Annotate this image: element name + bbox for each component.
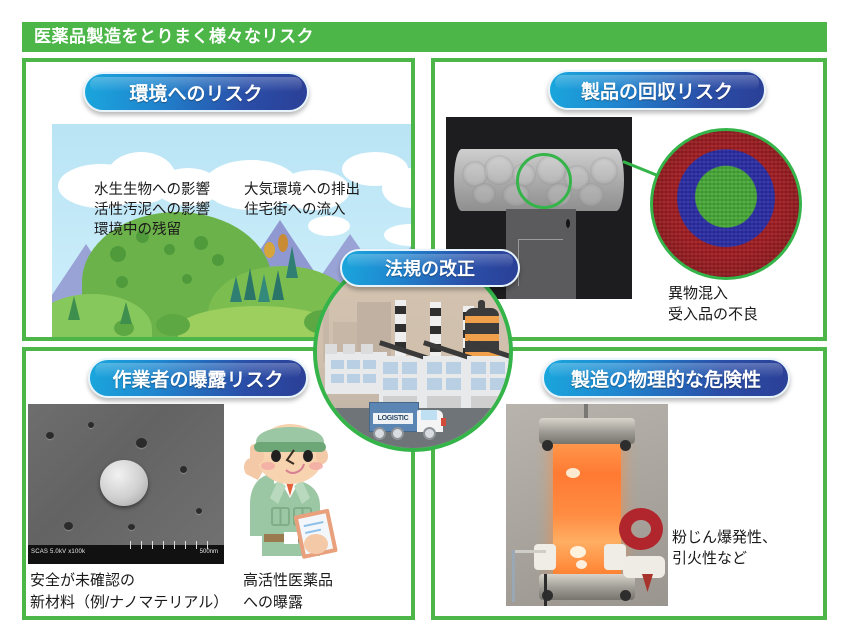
window-shape [471, 362, 486, 374]
window-shape [363, 374, 376, 383]
sem-scalebar: SCAS 5.0kV x100k 500nm [28, 545, 224, 564]
clamp-left [534, 544, 556, 570]
top-flange [539, 418, 635, 444]
bolt-icon [620, 440, 631, 451]
sem-pore [64, 522, 73, 530]
window-shape [427, 362, 442, 374]
label-text: 製造の物理的な危険性 [571, 365, 761, 392]
flame-highlight [576, 560, 587, 569]
roof-box [343, 344, 355, 354]
exposure-caption-left: 安全が未確認の 新材料（例/ナノマテリアル） [30, 570, 228, 614]
ct-defect-mark [566, 219, 570, 228]
window-shape [383, 362, 398, 374]
label-text: 法規の改正 [385, 255, 475, 281]
bush-shape [182, 274, 192, 284]
infographic-root: 医薬品製造をとりまく様々なリスク [0, 0, 850, 643]
autumn-tree-shape [278, 234, 288, 252]
dust-explosion-test-photo [506, 404, 668, 606]
window-shape [363, 360, 376, 369]
flame-highlight [570, 546, 586, 558]
bush-shape [156, 314, 190, 336]
granule-shape [578, 183, 604, 207]
bush-shape [110, 246, 126, 262]
truck-logo-label: LOGISTIC [373, 413, 413, 424]
bush-shape [116, 276, 128, 288]
window-shape [331, 374, 344, 383]
probe-stand [512, 550, 515, 602]
environment-risk-list-left: 水生生物への影響 活性汚泥への影響 環境中の残留 [94, 180, 210, 240]
page-title: 医薬品製造をとりまく様々なリスク [22, 22, 314, 52]
physical-hazard-caption: 粉じん爆発性、 引火性など [672, 527, 777, 569]
truck-taillight [441, 418, 446, 426]
tree-icon [286, 246, 298, 278]
label-worker-exposure-risk[interactable]: 作業者の曝露リスク [88, 358, 308, 398]
page-title-bar: 医薬品製造をとりまく様々なリスク [22, 22, 827, 52]
label-environment-risk[interactable]: 環境へのリスク [83, 72, 309, 112]
bolt-icon [620, 590, 631, 601]
bush-shape [164, 244, 175, 255]
probe-arm [512, 550, 546, 553]
tree-icon [272, 270, 284, 300]
label-text: 環境へのリスク [129, 79, 262, 106]
sem-pore [128, 524, 135, 530]
recall-caption: 異物混入 受入品の不良 [668, 283, 758, 325]
tree-icon [68, 296, 80, 320]
eds-noise-overlay [653, 131, 799, 277]
window-shape [490, 362, 505, 374]
tree-icon [244, 268, 256, 300]
valve-tip [642, 574, 653, 592]
exposure-caption-right: 高活性医薬品 への曝露 [243, 570, 333, 614]
label-law-revision[interactable]: 法規の改正 [340, 249, 520, 287]
truck-wheel [391, 427, 404, 440]
roof-box [361, 344, 373, 354]
tree-icon [230, 276, 242, 302]
window-shape [446, 362, 461, 374]
sem-scalebar-left-text: SCAS 5.0kV x100k [31, 549, 85, 555]
factory-building [325, 352, 387, 394]
sem-scalebar-right-text: 500nm [200, 549, 218, 555]
label-text: 作業者の曝露リスク [112, 365, 283, 392]
label-physical-hazard-risk[interactable]: 製造の物理的な危険性 [542, 358, 790, 398]
red-ring-part [619, 508, 663, 550]
label-product-recall-risk[interactable]: 製品の回収リスク [548, 70, 766, 110]
window-shape [402, 362, 417, 374]
window-shape [427, 378, 442, 390]
sem-pore [88, 422, 94, 428]
sem-micrograph-image: SCAS 5.0kV x100k 500nm [28, 404, 224, 564]
ct-guide-mark [518, 239, 563, 286]
tree-icon [120, 302, 132, 324]
sem-pore [196, 508, 202, 514]
wire-cable [544, 574, 547, 606]
window-shape [471, 378, 486, 390]
bolt-icon [542, 440, 553, 451]
window-shape [331, 360, 344, 369]
window-shape [347, 360, 360, 369]
sem-tick-marks [130, 541, 218, 549]
window-shape [383, 378, 398, 390]
eds-element-map-circle [650, 128, 802, 280]
window-shape [347, 374, 360, 383]
sem-pore [46, 432, 54, 439]
truck-wheel [373, 427, 386, 440]
window-shape [446, 378, 461, 390]
label-text: 製品の回収リスク [581, 77, 733, 104]
flame-highlight [566, 468, 580, 478]
granule-shape [472, 183, 496, 205]
zoom-region-circle [516, 153, 572, 209]
sem-pore [136, 438, 147, 448]
tank-neck [478, 300, 485, 312]
granule-shape [590, 157, 618, 185]
truck-window [421, 410, 437, 420]
tree-icon [258, 274, 270, 302]
nanoparticle-shape [100, 460, 148, 506]
roof-box [325, 344, 337, 354]
granule-shape [484, 155, 514, 185]
autumn-tree-shape [264, 242, 275, 258]
truck-wheel [423, 427, 436, 440]
window-shape [402, 378, 417, 390]
environment-risk-list-right: 大気環境への排出 住宅街への流入 [244, 180, 360, 220]
window-shape [490, 378, 505, 390]
sem-pore [180, 466, 187, 473]
bush-shape [212, 254, 224, 266]
